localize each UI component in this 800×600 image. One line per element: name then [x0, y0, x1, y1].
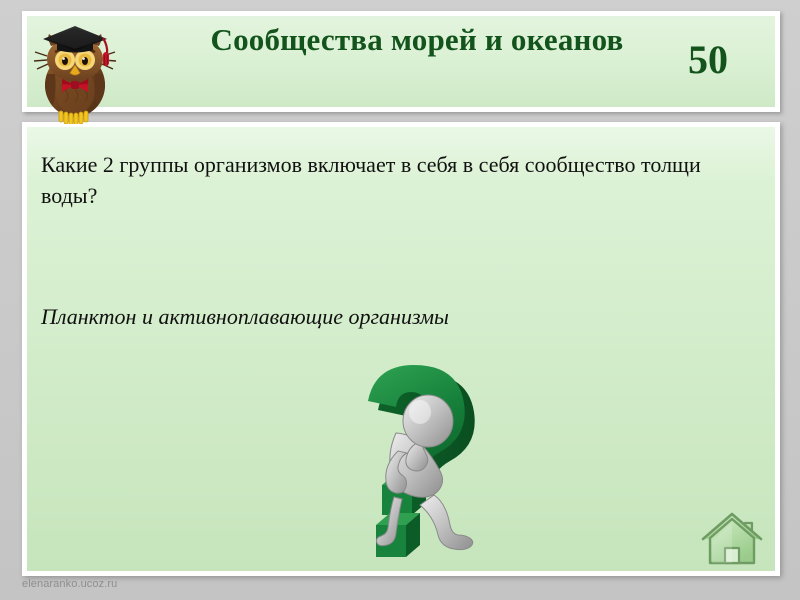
page-title: Сообщества морей и океанов	[147, 20, 687, 60]
watermark-text: elenaranko.ucoz.ru	[22, 578, 117, 590]
header-inner: Сообщества морей и океанов 50	[27, 16, 775, 107]
question-mark-thinker-icon	[324, 359, 534, 574]
content-panel: Какие 2 группы организмов включает в себ…	[22, 122, 780, 576]
owl-graduate-icon	[23, 12, 127, 124]
header-panel: Сообщества морей и океанов 50	[22, 11, 780, 112]
home-icon[interactable]	[699, 511, 765, 567]
question-text: Какие 2 группы организмов включает в себ…	[41, 149, 741, 211]
answer-text: Планктон и активноплавающие организмы	[41, 302, 751, 332]
score-value: 50	[663, 36, 753, 83]
slide-canvas: Сообщества морей и океанов 50 Какие 2 гр…	[0, 0, 800, 600]
